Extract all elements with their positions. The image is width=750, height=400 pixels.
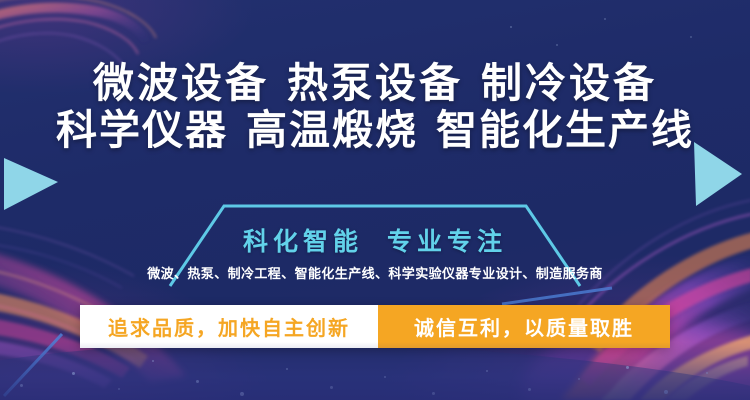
slogan-group: 追求品质，加快自主创新 诚信互利，以质量取胜 [80, 305, 670, 348]
horizon-gradient [0, 342, 750, 400]
headline-line2-part3: 智能化生产线 [436, 106, 694, 154]
headline-line1-part2: 热泵设备 [287, 59, 463, 107]
diagonal-accent-line [0, 330, 70, 400]
left-chevron-icon [2, 152, 62, 216]
headline-line2-part1: 科学仪器 [56, 106, 228, 154]
promotional-banner: 微波设备热泵设备制冷设备 科学仪器高温煅烧智能化生产线 科化智能专业专注 微波、… [0, 0, 750, 400]
slogan-right[interactable]: 诚信互利，以质量取胜 [378, 305, 670, 348]
slogan-left[interactable]: 追求品质，加快自主创新 [80, 305, 378, 348]
descriptor-text: 微波、热泵、制冷工程、智能化生产线、科学实验仪器专业设计、制造服务商 [0, 263, 750, 282]
headline-line-1: 微波设备热泵设备制冷设备 [0, 62, 750, 105]
headline-line-2: 科学仪器高温煅烧智能化生产线 [0, 109, 750, 152]
headline-line1-part3: 制冷设备 [481, 59, 657, 107]
headline-group: 微波设备热泵设备制冷设备 科学仪器高温煅烧智能化生产线 [0, 62, 750, 153]
subheadline-group: 科化智能专业专注 [0, 222, 750, 258]
subheadline-left: 科化智能 [243, 227, 363, 256]
headline-line1-part1: 微波设备 [93, 59, 269, 107]
subheadline-right: 专业专注 [387, 227, 507, 256]
headline-line2-part2: 高温煅烧 [246, 106, 418, 154]
